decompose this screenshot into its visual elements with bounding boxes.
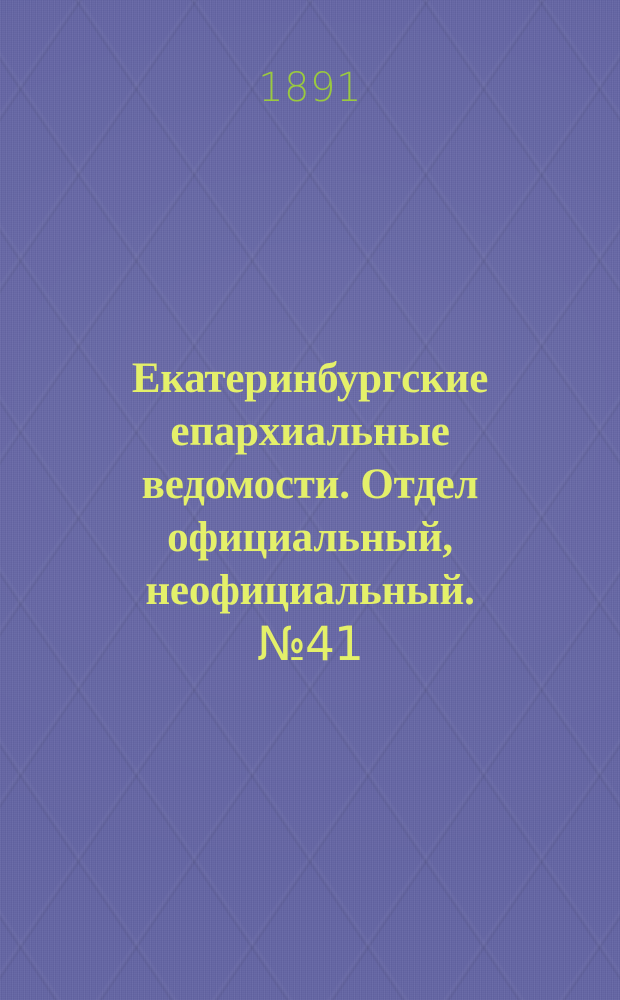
title-block: Екатеринбургские епархиальные ведомости.… [0,352,620,673]
title-line-1: Екатеринбургские [0,352,620,405]
title-line-5: неофициальный. [0,564,620,617]
title-line-2: епархиальные [0,405,620,458]
title-line-3: ведомости. Отдел [0,458,620,511]
book-cover: 1891 Екатеринбургские епархиальные ведом… [0,0,620,1000]
publication-year: 1891 [0,68,620,108]
title-line-4: официальный, [0,511,620,564]
issue-number: №41 [0,617,620,673]
